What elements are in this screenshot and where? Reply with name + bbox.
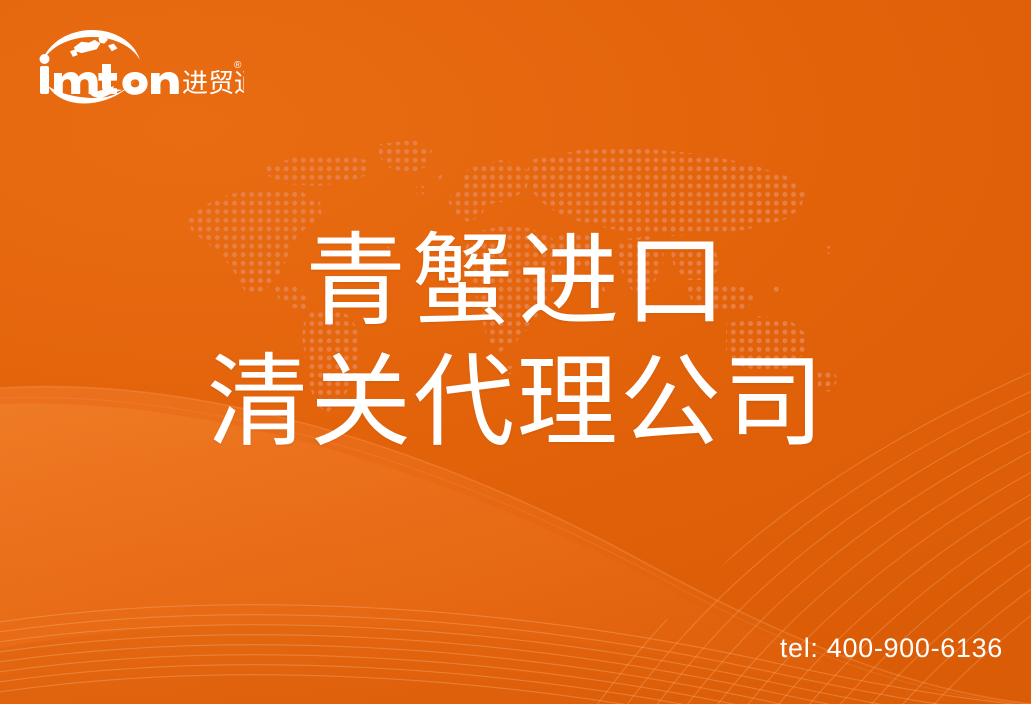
contact-phone[interactable]: tel: 400-900-6136 — [780, 633, 1003, 664]
logo-wordmark — [40, 54, 179, 95]
brand-logo[interactable]: 进贸通 ® — [34, 28, 244, 106]
registered-trademark-icon: ® — [234, 60, 242, 71]
promo-banner: 进贸通 ® 青蟹进口 清关代理公司 tel: 400-900-6136 — [0, 0, 1031, 704]
headline-line-2: 清关代理公司 — [0, 349, 1031, 458]
page-title: 青蟹进口 清关代理公司 — [0, 228, 1031, 458]
headline-line-1: 青蟹进口 — [0, 228, 1031, 337]
logo-chinese-name: 进贸通 — [182, 68, 244, 98]
